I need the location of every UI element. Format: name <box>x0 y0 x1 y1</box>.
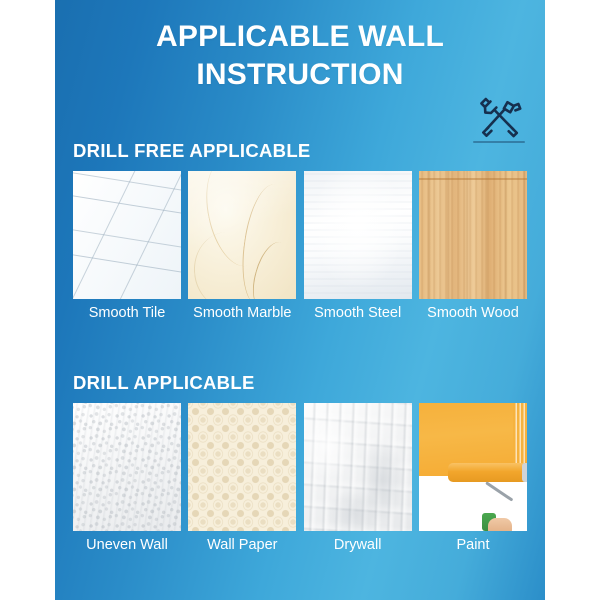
tile-label-wall-paper: Wall Paper <box>207 538 277 554</box>
smooth-tile-texture <box>73 171 181 299</box>
section-drill: DRILL APPLICABLE Uneven Wall Wall Paper <box>55 372 545 554</box>
blue-panel: APPLICABLE WALL INSTRUCTION <box>55 0 545 600</box>
tile-smooth-marble[interactable]: Smooth Marble <box>188 171 296 322</box>
page-title: APPLICABLE WALL INSTRUCTION <box>55 18 545 95</box>
tile-uneven-wall[interactable]: Uneven Wall <box>73 403 181 554</box>
hammer-wrench-icon <box>468 92 530 146</box>
tile-row-drill-free: Smooth Tile Smooth Marble Smooth Steel <box>55 171 545 322</box>
section-drill-free: DRILL FREE APPLICABLE Smooth Tile <box>55 140 545 322</box>
paint-texture <box>419 403 527 531</box>
section-title-drill-free: DRILL FREE APPLICABLE <box>55 140 545 162</box>
header: APPLICABLE WALL INSTRUCTION <box>55 18 545 95</box>
tile-label-paint: Paint <box>456 538 489 554</box>
tile-smooth-tile[interactable]: Smooth Tile <box>73 171 181 322</box>
tile-drywall[interactable]: Drywall <box>304 403 412 554</box>
section-title-drill: DRILL APPLICABLE <box>55 372 545 394</box>
drywall-texture <box>304 403 412 531</box>
tile-smooth-wood[interactable]: Smooth Wood <box>419 171 527 322</box>
tile-label-smooth-tile: Smooth Tile <box>89 306 166 322</box>
tile-label-smooth-wood: Smooth Wood <box>427 306 519 322</box>
smooth-wood-texture <box>419 171 527 299</box>
tile-label-smooth-marble: Smooth Marble <box>193 306 291 322</box>
applicable-wall-infographic: APPLICABLE WALL INSTRUCTION <box>0 0 600 600</box>
tile-paint[interactable]: Paint <box>419 403 527 554</box>
tile-label-smooth-steel: Smooth Steel <box>314 306 401 322</box>
tile-label-uneven-wall: Uneven Wall <box>86 538 168 554</box>
wall-paper-texture <box>188 403 296 531</box>
tile-smooth-steel[interactable]: Smooth Steel <box>304 171 412 322</box>
uneven-wall-texture <box>73 403 181 531</box>
tile-wall-paper[interactable]: Wall Paper <box>188 403 296 554</box>
tile-row-drill: Uneven Wall Wall Paper Drywall <box>55 403 545 554</box>
smooth-marble-texture <box>188 171 296 299</box>
paint-roller-icon <box>448 463 527 482</box>
tile-label-drywall: Drywall <box>334 538 382 554</box>
smooth-steel-texture <box>304 171 412 299</box>
